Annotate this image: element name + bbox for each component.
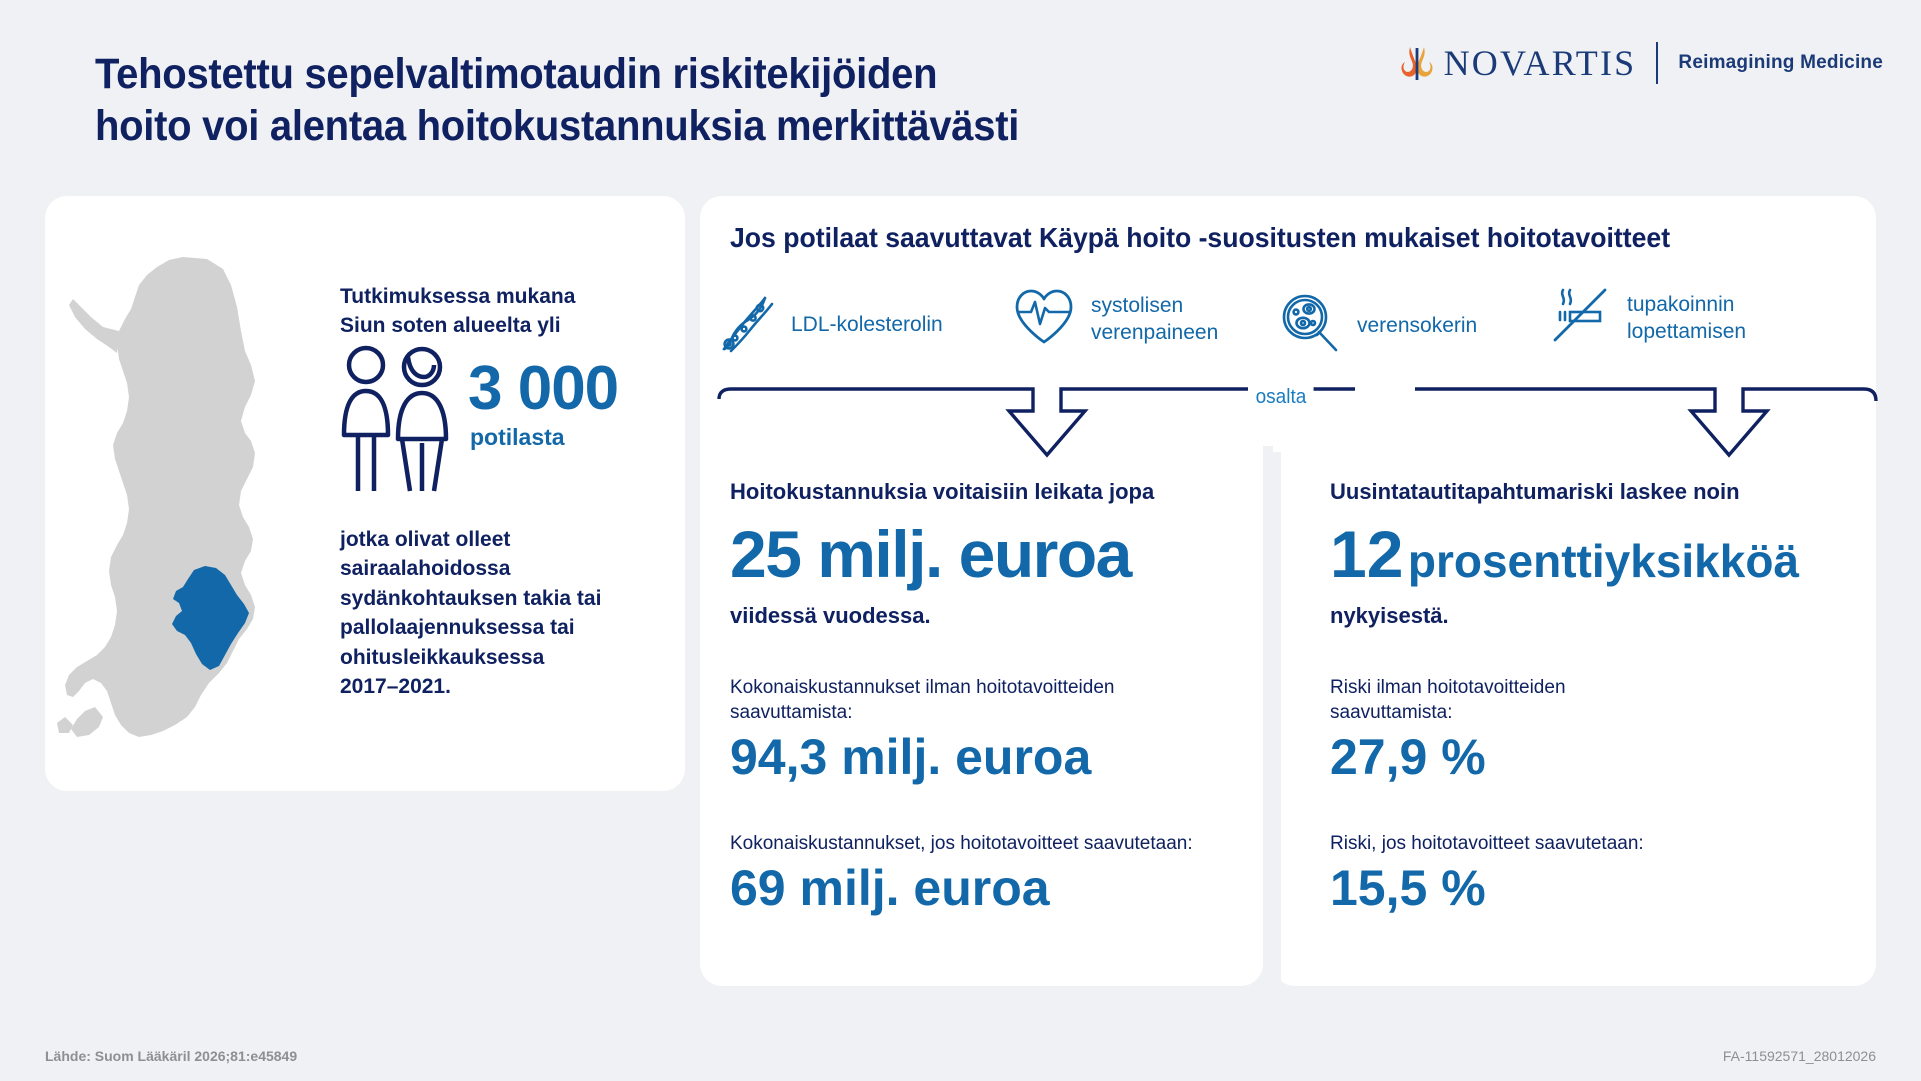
study-body-text: jotka olivat olleet sairaalahoidossa syd… xyxy=(340,525,675,701)
novartis-logo: NOVARTIS Reimagining Medicine xyxy=(1400,42,1883,84)
cost-stat-value: 94,3 milj. euroa xyxy=(730,730,1250,785)
patient-count: 3 000 xyxy=(468,358,618,420)
patient-count-unit: potilasta xyxy=(470,424,565,451)
artery-cholesterol-icon xyxy=(715,292,777,359)
risk-factor-item: LDL-kolesterolin xyxy=(715,292,943,359)
novartis-tagline: Reimagining Medicine xyxy=(1678,52,1883,74)
cost-stat-with: Kokonaiskustannukset, jos hoitotavoittee… xyxy=(730,831,1250,916)
risk-after-text: nykyisestä. xyxy=(1330,603,1875,629)
risk-stat-label: Riski, jos hoitotavoitteet saavutetaan: xyxy=(1330,831,1875,857)
cost-stat-without: Kokonaiskustannukset ilman hoitotavoitte… xyxy=(730,675,1250,785)
risk-factor-item: tupakoinnin lopettamisen xyxy=(1551,286,1746,351)
cost-after-text: viidessä vuodessa. xyxy=(730,603,1250,629)
panel-title: Jos potilaat saavuttavat Käypä hoito -su… xyxy=(730,222,1670,254)
two-people-icon xyxy=(338,343,466,498)
infographic-page: Tehostettu sepelvaltimotaudin riskitekij… xyxy=(0,0,1921,1081)
footer-code: FA-11592571_28012026 xyxy=(1723,1048,1876,1064)
risk-hero-number: 12 xyxy=(1330,517,1403,591)
risk-factor-item: verensokerin xyxy=(1279,292,1477,361)
footer-source: Lähde: Suom Lääkäril 2026;81:e45849 xyxy=(45,1048,297,1064)
novartis-flame-icon xyxy=(1400,44,1434,82)
cost-intro: Hoitokustannuksia voitaisiin leikata jop… xyxy=(730,478,1250,507)
heart-ecg-icon xyxy=(1011,286,1077,353)
risk-stat-value: 15,5 % xyxy=(1330,861,1875,916)
risk-stat-with: Riski, jos hoitotavoitteet saavutetaan: … xyxy=(1330,831,1875,916)
risk-stat-without: Riski ilman hoitotavoitteiden saavuttami… xyxy=(1330,675,1875,785)
novartis-wordmark: NOVARTIS xyxy=(1444,45,1637,81)
risk-hero: 12 prosenttiyksikköä xyxy=(1330,521,1875,587)
risk-factor-item: systolisen verenpaineen xyxy=(1011,286,1218,353)
column-divider xyxy=(1273,452,1281,986)
risk-factor-label: systolisen verenpaineen xyxy=(1091,293,1218,347)
risk-stat-value: 27,9 % xyxy=(1330,730,1875,785)
cost-stat-label: Kokonaiskustannukset, jos hoitotavoittee… xyxy=(730,831,1250,857)
risk-factor-label: LDL-kolesterolin xyxy=(791,312,943,339)
risk-intro: Uusintatautitapahtumariski laskee noin xyxy=(1330,478,1875,507)
risk-hero-unit: prosenttiyksikköä xyxy=(1408,535,1799,587)
risk-factor-label: verensokerin xyxy=(1357,313,1477,340)
risk-factor-row: LDL-kolesterolin systolisen verenpaineen xyxy=(715,286,1875,372)
logo-divider xyxy=(1656,42,1658,84)
risk-stat-label: Riski ilman hoitotavoitteiden saavuttami… xyxy=(1330,675,1875,726)
cost-stat-value: 69 milj. euroa xyxy=(730,861,1250,916)
no-smoking-icon xyxy=(1551,286,1613,351)
page-title: Tehostettu sepelvaltimotaudin riskitekij… xyxy=(95,48,1019,153)
cost-hero-value: 25 milj. euroa xyxy=(730,521,1250,587)
risk-factor-label: tupakoinnin lopettamisen xyxy=(1627,292,1746,346)
connector-label: osalta xyxy=(1248,386,1314,409)
cost-stat-label: Kokonaiskustannukset ilman hoitotavoitte… xyxy=(730,675,1250,726)
magnifier-blood-cells-icon xyxy=(1279,292,1343,361)
cost-result-column: Hoitokustannuksia voitaisiin leikata jop… xyxy=(730,478,1250,916)
finland-map xyxy=(55,255,315,755)
risk-result-column: Uusintatautitapahtumariski laskee noin 1… xyxy=(1330,478,1875,916)
study-lead-text: Tutkimuksessa mukana Siun soten alueelta… xyxy=(340,283,670,341)
